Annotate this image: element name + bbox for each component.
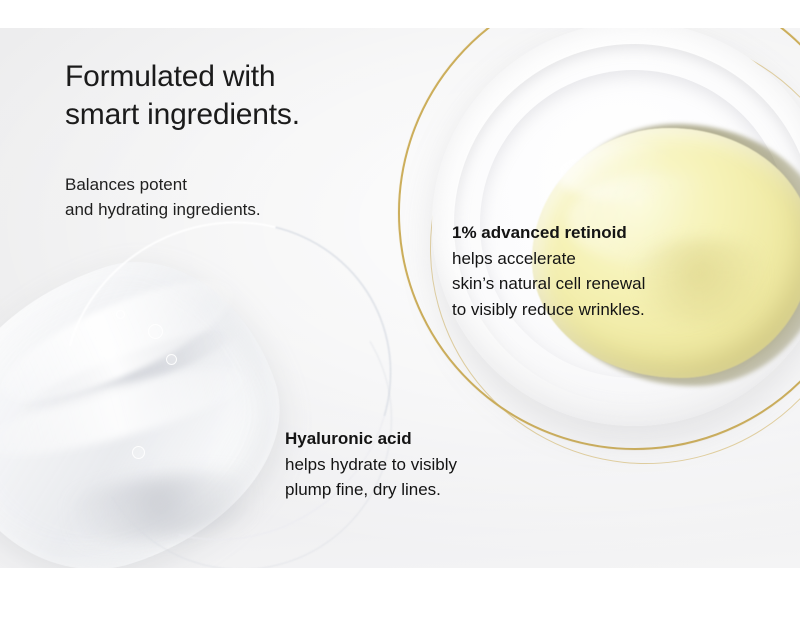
subhead-line-2: and hydrating ingredients.: [65, 197, 395, 222]
callout-retinoid-line-1: helps accelerate: [452, 246, 752, 272]
subhead-line-1: Balances potent: [65, 172, 395, 197]
callout-hyaluronic-lead: Hyaluronic acid: [285, 426, 545, 452]
callout-hyaluronic-line-2: plump fine, dry lines.: [285, 477, 545, 503]
creative-banner: Formulated with smart ingredients. Balan…: [0, 0, 800, 624]
callout-retinoid: 1% advanced retinoid helps accelerate sk…: [452, 220, 752, 322]
callout-hyaluronic-line-1: helps hydrate to visibly: [285, 452, 545, 478]
top-white-band: [0, 0, 800, 28]
gel-bubble: [148, 324, 163, 339]
page-title: Formulated with smart ingredients.: [65, 58, 395, 134]
subheadline: Balances potent and hydrating ingredient…: [65, 172, 395, 222]
gel-bubble: [166, 354, 177, 365]
headline-line-1: Formulated with: [65, 58, 395, 96]
gel-bubble: [132, 446, 145, 459]
callout-retinoid-line-3: to visibly reduce wrinkles.: [452, 297, 752, 323]
callout-retinoid-lead: 1% advanced retinoid: [452, 220, 752, 246]
bottom-white-band: [0, 568, 800, 624]
headline-line-2: smart ingredients.: [65, 96, 395, 134]
hyaluronic-gel-image: [0, 258, 360, 568]
callout-retinoid-line-2: skin’s natural cell renewal: [452, 271, 752, 297]
callout-hyaluronic: Hyaluronic acid helps hydrate to visibly…: [285, 426, 545, 503]
gel-bubble: [116, 310, 125, 319]
